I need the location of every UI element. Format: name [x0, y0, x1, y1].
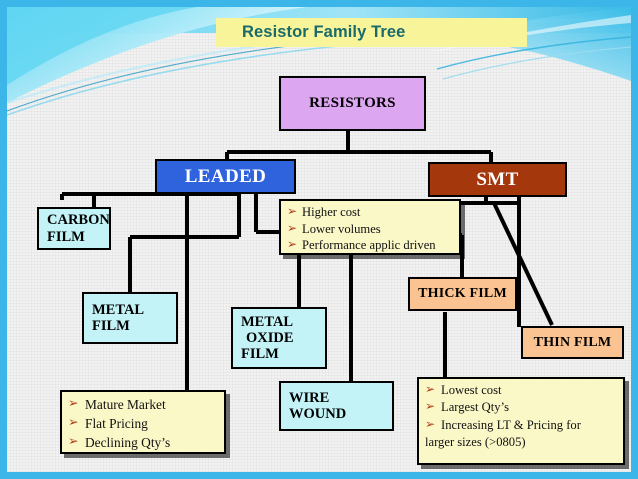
- list-item: ➢ Mature Market: [67, 395, 220, 414]
- node-resistors-label: RESISTORS: [309, 95, 396, 112]
- callout-smt-attributes: ➢ Higher cost ➢ Lower volumes ➢ Performa…: [279, 199, 461, 255]
- arrow-bullet-icon: ➢: [287, 203, 297, 220]
- node-smt-label: SMT: [476, 169, 518, 190]
- arrow-bullet-icon: ➢: [68, 413, 78, 431]
- list-item: ➢ Declining Qty’s: [67, 433, 220, 452]
- list-item: ➢ Lowest cost: [424, 382, 619, 399]
- arrow-bullet-icon: ➢: [68, 432, 78, 450]
- slide-canvas: Resistor Family Tree: [0, 0, 638, 479]
- node-carbon-film-label: CARBON FILM: [47, 212, 110, 244]
- list-item: ➢ Lower volumes: [286, 221, 455, 238]
- list-item: ➢ Flat Pricing: [67, 414, 220, 433]
- node-smt[interactable]: SMT: [428, 162, 567, 197]
- arrow-bullet-icon: ➢: [68, 394, 78, 412]
- node-resistors[interactable]: RESISTORS: [279, 76, 426, 131]
- node-metal-oxide-film-label: METAL OXIDE FILM: [241, 314, 294, 363]
- list-item: ➢ Increasing LT & Pricing for larger siz…: [424, 417, 619, 452]
- node-wire-wound[interactable]: WIRE WOUND: [279, 381, 394, 431]
- callout-smt-market: ➢ Lowest cost ➢ Largest Qty’s ➢ Increasi…: [417, 377, 625, 465]
- arrow-bullet-icon: ➢: [425, 416, 435, 433]
- callout-smt-market-list: ➢ Lowest cost ➢ Largest Qty’s ➢ Increasi…: [424, 382, 619, 452]
- slide-title-banner: Resistor Family Tree: [216, 18, 527, 47]
- arrow-bullet-icon: ➢: [425, 381, 435, 398]
- node-thin-film[interactable]: THIN FILM: [521, 326, 624, 359]
- callout-leaded-market-list: ➢ Mature Market ➢ Flat Pricing ➢ Declini…: [67, 395, 220, 452]
- node-leaded[interactable]: LEADED: [155, 159, 296, 194]
- node-wire-wound-label: WIRE WOUND: [289, 390, 346, 422]
- node-thick-film[interactable]: THICK FILM: [408, 277, 517, 311]
- node-metal-film[interactable]: METAL FILM: [82, 292, 178, 344]
- arrow-bullet-icon: ➢: [287, 236, 297, 253]
- page-title: Resistor Family Tree: [216, 23, 405, 42]
- callout-leaded-market: ➢ Mature Market ➢ Flat Pricing ➢ Declini…: [60, 390, 226, 454]
- callout-smt-attributes-list: ➢ Higher cost ➢ Lower volumes ➢ Performa…: [286, 204, 455, 254]
- list-item: ➢ Performance applic driven: [286, 237, 455, 254]
- node-thick-film-label: THICK FILM: [418, 286, 507, 302]
- node-carbon-film[interactable]: CARBON FILM: [37, 207, 111, 250]
- node-leaded-label: LEADED: [185, 166, 267, 187]
- list-item: ➢ Higher cost: [286, 204, 455, 221]
- node-metal-oxide-film[interactable]: METAL OXIDE FILM: [231, 307, 327, 369]
- node-thin-film-label: THIN FILM: [534, 335, 612, 351]
- arrow-bullet-icon: ➢: [287, 220, 297, 237]
- arrow-bullet-icon: ➢: [425, 398, 435, 415]
- list-item: ➢ Largest Qty’s: [424, 399, 619, 416]
- node-metal-film-label: METAL FILM: [92, 302, 144, 334]
